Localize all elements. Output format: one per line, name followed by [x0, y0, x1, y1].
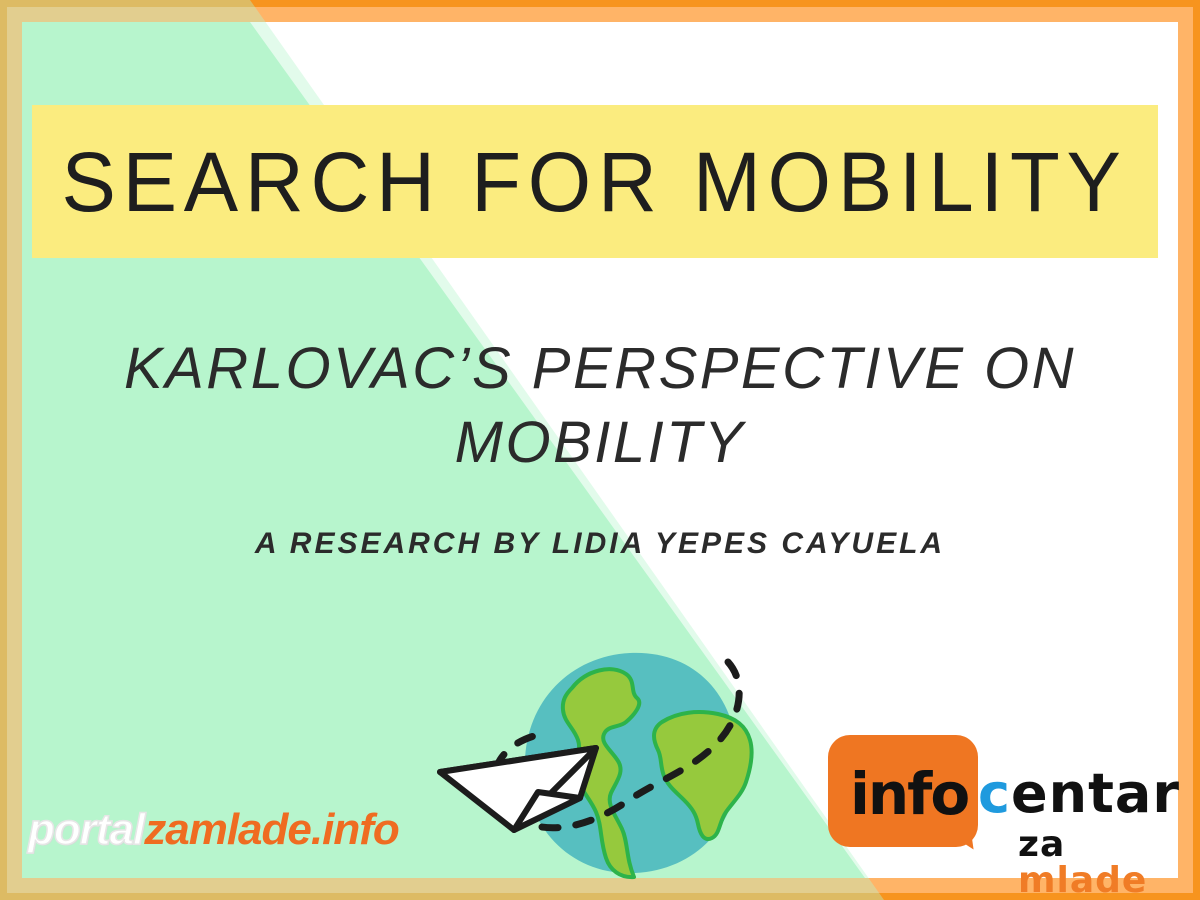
- infocentar-logo-letter-c: c: [978, 762, 1011, 825]
- subtitle-line-2: MOBILITY: [0, 406, 1200, 480]
- title-banner: SEARCH FOR MOBILITY: [32, 105, 1158, 258]
- subtitle-line-1: KARLOVAC’S PERSPECTIVE ON: [124, 336, 1076, 401]
- poster-byline: A RESEARCH BY LIDIA YEPES CAYUELA: [0, 527, 1200, 561]
- portal-logo-word-zamlade: zamlade: [144, 805, 311, 854]
- tagline-word-za: za: [1018, 824, 1065, 865]
- globe-illustration: [430, 630, 820, 900]
- infocentar-logo-word-info: info: [850, 765, 968, 823]
- infocentar-logo-tagline: za mlade: [1018, 827, 1168, 899]
- infocentar-logo[interactable]: info centar za mlade: [828, 735, 1168, 875]
- infocentar-logo-word-centar: centar: [978, 767, 1180, 821]
- poster-subtitle: KARLOVAC’S PERSPECTIVE ON MOBILITY: [0, 332, 1200, 480]
- portal-logo-word-suffix: .info: [311, 805, 399, 854]
- infocentar-logo-letters-entar: entar: [1011, 762, 1180, 825]
- poster-canvas: SEARCH FOR MOBILITY KARLOVAC’S PERSPECTI…: [0, 0, 1200, 900]
- poster-title: SEARCH FOR MOBILITY: [62, 140, 1128, 224]
- portalzamlade-logo[interactable]: portalzamlade.info: [28, 808, 399, 852]
- tagline-word-mlade: mlade: [1018, 860, 1147, 900]
- portal-logo-word-portal: portal: [28, 805, 144, 854]
